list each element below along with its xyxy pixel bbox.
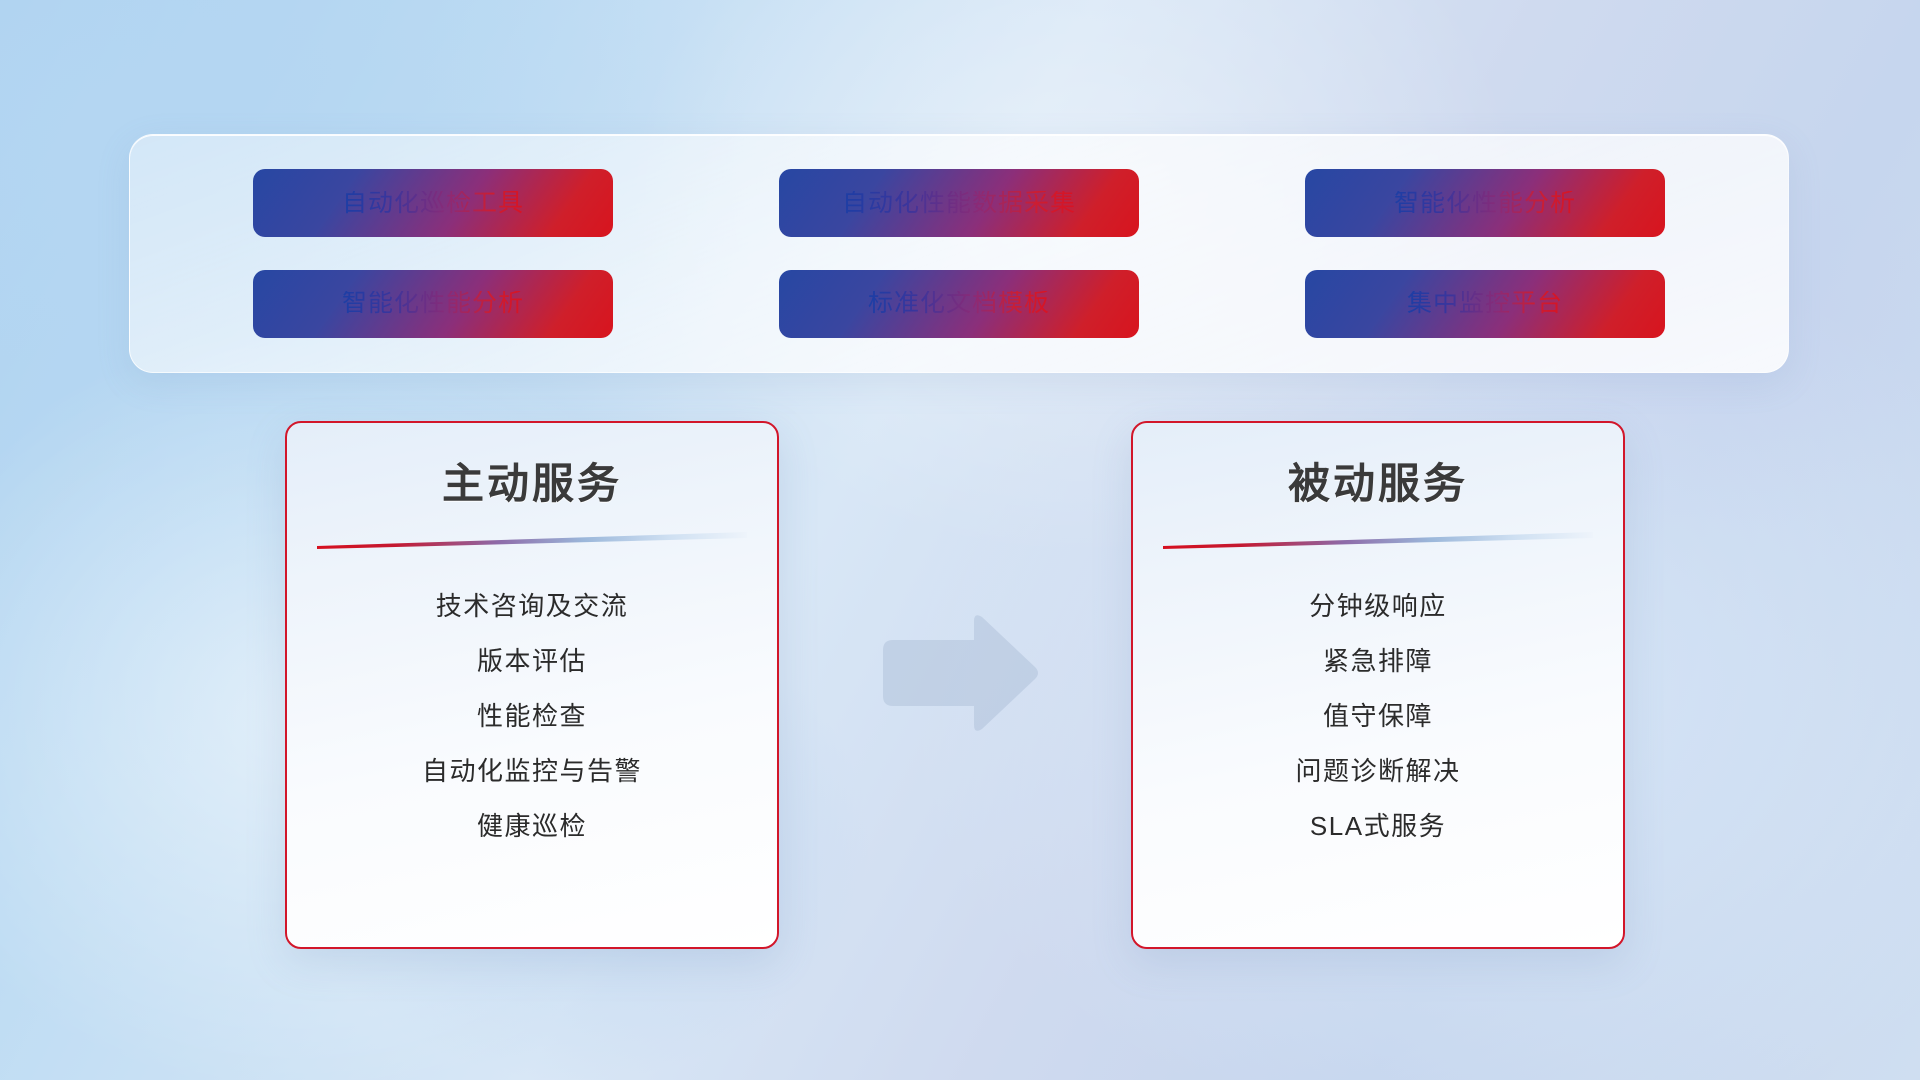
- service-item: 紧急排障: [1323, 634, 1433, 689]
- service-item-list: 技术咨询及交流 版本评估 性能检查 自动化监控与告警 健康巡检: [313, 579, 751, 854]
- capability-chip-label: 自动化性能数据采集: [842, 191, 1076, 216]
- capability-chip[interactable]: 自动化巡检工具: [255, 171, 611, 235]
- service-item: 技术咨询及交流: [436, 579, 629, 634]
- capability-chip-label: 集中监控平台: [1407, 291, 1563, 316]
- capability-chip[interactable]: 集中监控平台: [1307, 272, 1663, 336]
- service-item: 健康巡检: [477, 799, 587, 854]
- capability-chip-panel: 自动化巡检工具 自动化性能数据采集 智能化性能分析 智能化性能分析 标准化文档模…: [129, 134, 1789, 373]
- service-item-list: 分钟级响应 紧急排障 值守保障 问题诊断解决 SLA式服务: [1159, 579, 1597, 854]
- capability-chip-label: 自动化巡检工具: [342, 191, 524, 216]
- service-card-reactive: 被动服务 分钟级响应 紧急排障 值守保障: [1131, 421, 1625, 949]
- capability-chip[interactable]: 智能化性能分析: [255, 272, 611, 336]
- service-item: SLA式服务: [1310, 799, 1446, 854]
- service-item: 问题诊断解决: [1295, 744, 1460, 799]
- capability-chip[interactable]: 自动化性能数据采集: [781, 171, 1137, 235]
- capability-chip-label: 智能化性能分析: [342, 291, 524, 316]
- gradient-divider: [317, 529, 747, 549]
- service-item: 值守保障: [1323, 689, 1433, 744]
- card-title: 主动服务: [442, 461, 622, 507]
- gradient-divider: [1163, 529, 1593, 549]
- card-title: 被动服务: [1288, 461, 1468, 507]
- service-item: 分钟级响应: [1309, 579, 1447, 634]
- capability-chip[interactable]: 标准化文档模板: [781, 272, 1137, 336]
- right-arrow-icon: [875, 612, 1040, 734]
- capability-chip-label: 智能化性能分析: [1394, 191, 1576, 216]
- capability-chip[interactable]: 智能化性能分析: [1307, 171, 1663, 235]
- service-item: 版本评估: [477, 634, 587, 689]
- service-card-proactive: 主动服务 技术咨询及交流 版本评估 性能检查: [285, 421, 779, 949]
- service-item: 自动化监控与告警: [422, 744, 642, 799]
- slide-canvas: 自动化巡检工具 自动化性能数据采集 智能化性能分析 智能化性能分析 标准化文档模…: [0, 0, 1920, 1080]
- service-item: 性能检查: [477, 689, 587, 744]
- capability-chip-label: 标准化文档模板: [868, 291, 1050, 316]
